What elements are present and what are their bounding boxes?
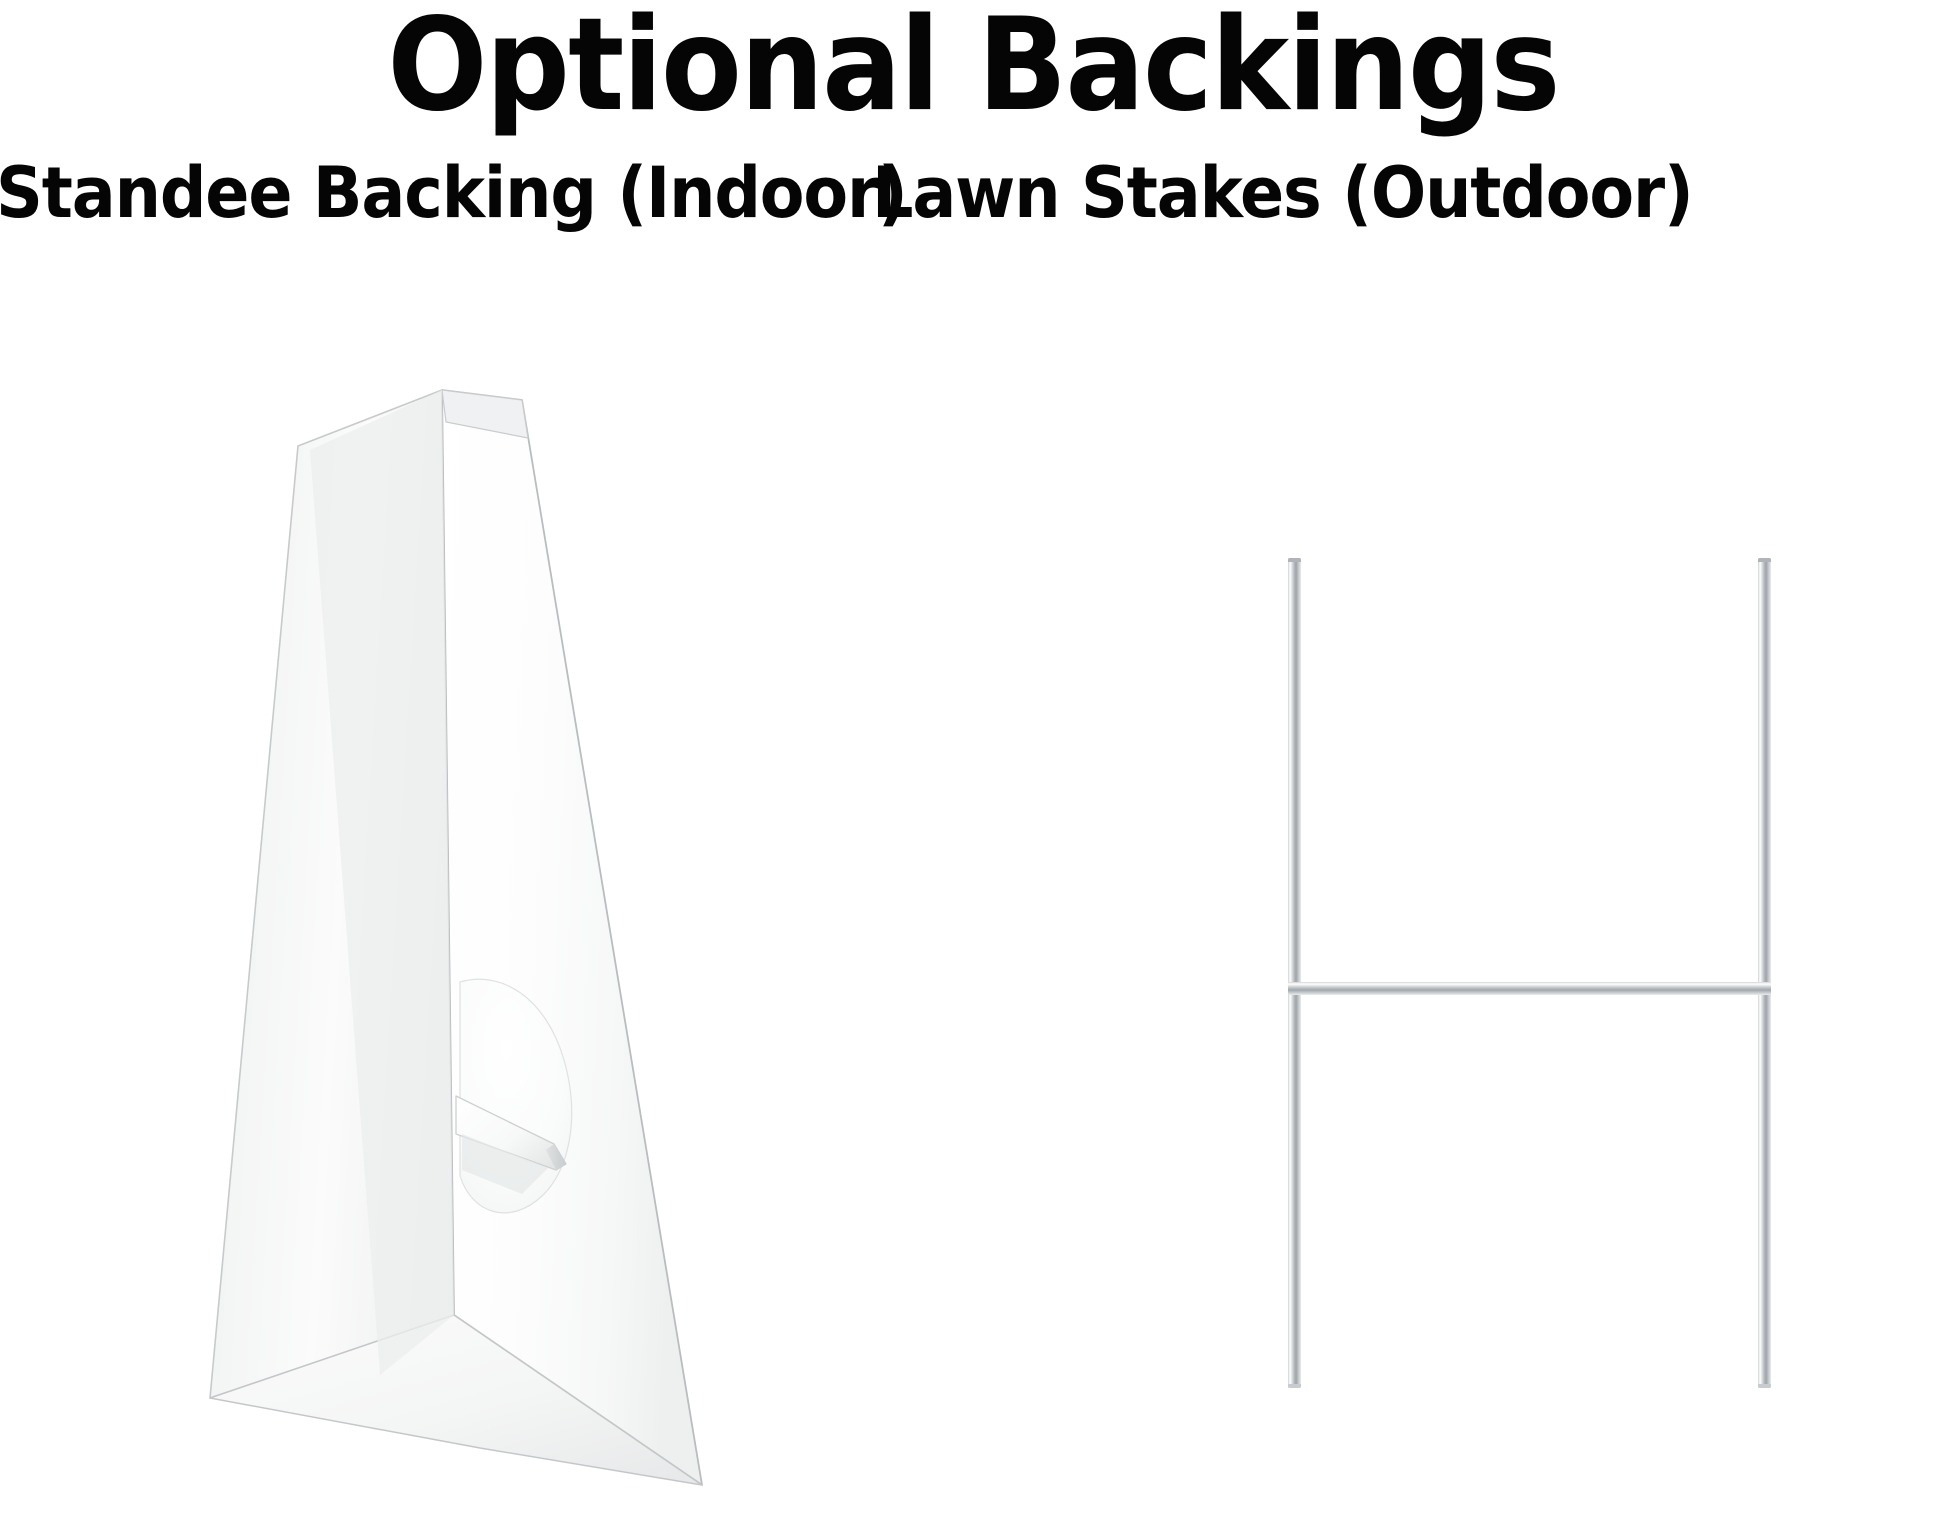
lawn-stake-crossbar [1288, 982, 1771, 995]
standee-front-panel [442, 390, 702, 1485]
lawn-stakes-illustration [1200, 500, 1840, 1450]
lawn-stake-right-leg [1758, 558, 1771, 1388]
product-illustration-stage [0, 0, 1946, 1528]
lawn-stake-left-leg [1288, 558, 1301, 1388]
standee-backing-illustration [150, 270, 870, 1530]
